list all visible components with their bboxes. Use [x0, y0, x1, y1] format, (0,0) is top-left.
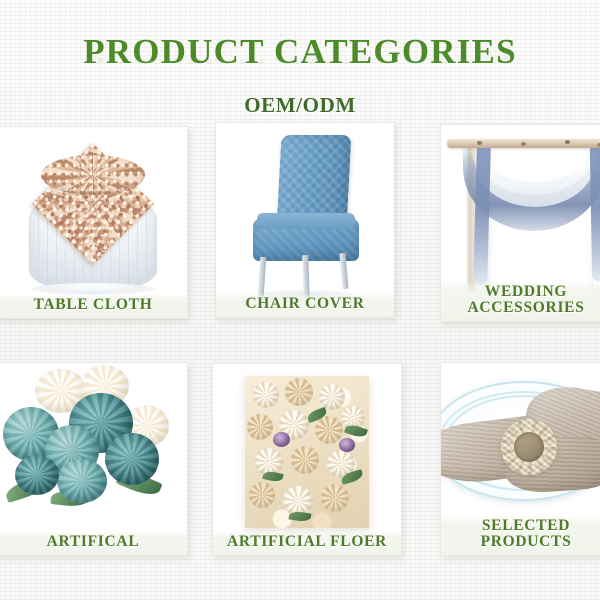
artifical-flowers-image: [0, 363, 187, 555]
category-label-text: ARTIFICAL: [1, 534, 185, 550]
peony-teal-dark: [15, 455, 59, 495]
wall-rose: [319, 384, 345, 410]
flower-wall-illustration: [245, 376, 369, 528]
chair-cover-illustration: [245, 135, 365, 295]
wall-purple-accent: [273, 432, 290, 447]
category-grid: TABLE CLOTH CHAIR COVER: [0, 126, 600, 598]
category-row-1: TABLE CLOTH CHAIR COVER: [0, 126, 600, 362]
wall-rose: [291, 446, 319, 474]
chair-cover-image: [216, 123, 394, 317]
category-card-artificial-floer[interactable]: ARTIFICIAL FLOER: [212, 363, 402, 556]
wall-rose: [315, 416, 343, 444]
category-card-table-cloth[interactable]: TABLE CLOTH: [0, 126, 188, 319]
category-card-selected-products[interactable]: SELECTED PRODUCTS: [440, 362, 600, 556]
category-card-chair-cover[interactable]: CHAIR COVER: [215, 122, 395, 318]
wall-rose: [249, 482, 275, 508]
arch-top-beam: [447, 139, 600, 148]
category-label-text-line1: WEDDING: [443, 284, 600, 300]
category-label-text: TABLE CLOTH: [1, 297, 185, 313]
category-label-text-line1: SELECTED: [443, 518, 600, 534]
table-cloth-image: [0, 127, 187, 318]
category-card-artifical[interactable]: ARTIFICAL: [0, 362, 188, 556]
category-card-wedding-accessories[interactable]: WEDDING ACCESSORIES: [440, 124, 600, 322]
page-title-text: PRODUCT CATEGORIES: [83, 32, 517, 71]
wall-rose: [247, 414, 273, 440]
arch-drape-tail-right: [590, 147, 600, 281]
category-label-artifical: ARTIFICAL: [0, 531, 187, 555]
peony-teal: [57, 459, 107, 503]
wall-rose: [253, 382, 279, 408]
category-label-table-cloth: TABLE CLOTH: [0, 294, 187, 318]
wall-purple-accent: [339, 438, 355, 452]
category-label-chair-cover: CHAIR COVER: [216, 293, 394, 317]
category-label-artificial-floer: ARTIFICIAL FLOER: [213, 531, 401, 555]
wall-rose: [285, 378, 313, 406]
table-cloth-illustration: [13, 153, 173, 293]
category-label-text-line2: ACCESSORIES: [443, 300, 600, 316]
rope-napkin-ring: [501, 419, 557, 475]
peony-bouquet-illustration: [0, 363, 187, 555]
category-label-text-line2: PRODUCTS: [443, 534, 600, 550]
artificial-floer-image: [213, 364, 401, 555]
page-header: PRODUCT CATEGORIES PRODUCT CATEGORIES OE…: [0, 0, 600, 118]
wall-rose: [321, 484, 349, 512]
category-label-selected-products: SELECTED PRODUCTS: [441, 515, 600, 555]
category-label-text: CHAIR COVER: [218, 296, 392, 312]
category-label-text: ARTIFICIAL FLOER: [215, 534, 399, 550]
category-row-2: ARTIFICAL: [0, 362, 600, 598]
page-title: PRODUCT CATEGORIES PRODUCT CATEGORIES: [83, 34, 517, 102]
category-label-wedding-accessories: WEDDING ACCESSORIES: [441, 281, 600, 321]
table-cloth-sequin-top: [41, 155, 145, 195]
peony-teal-dark: [105, 433, 159, 485]
